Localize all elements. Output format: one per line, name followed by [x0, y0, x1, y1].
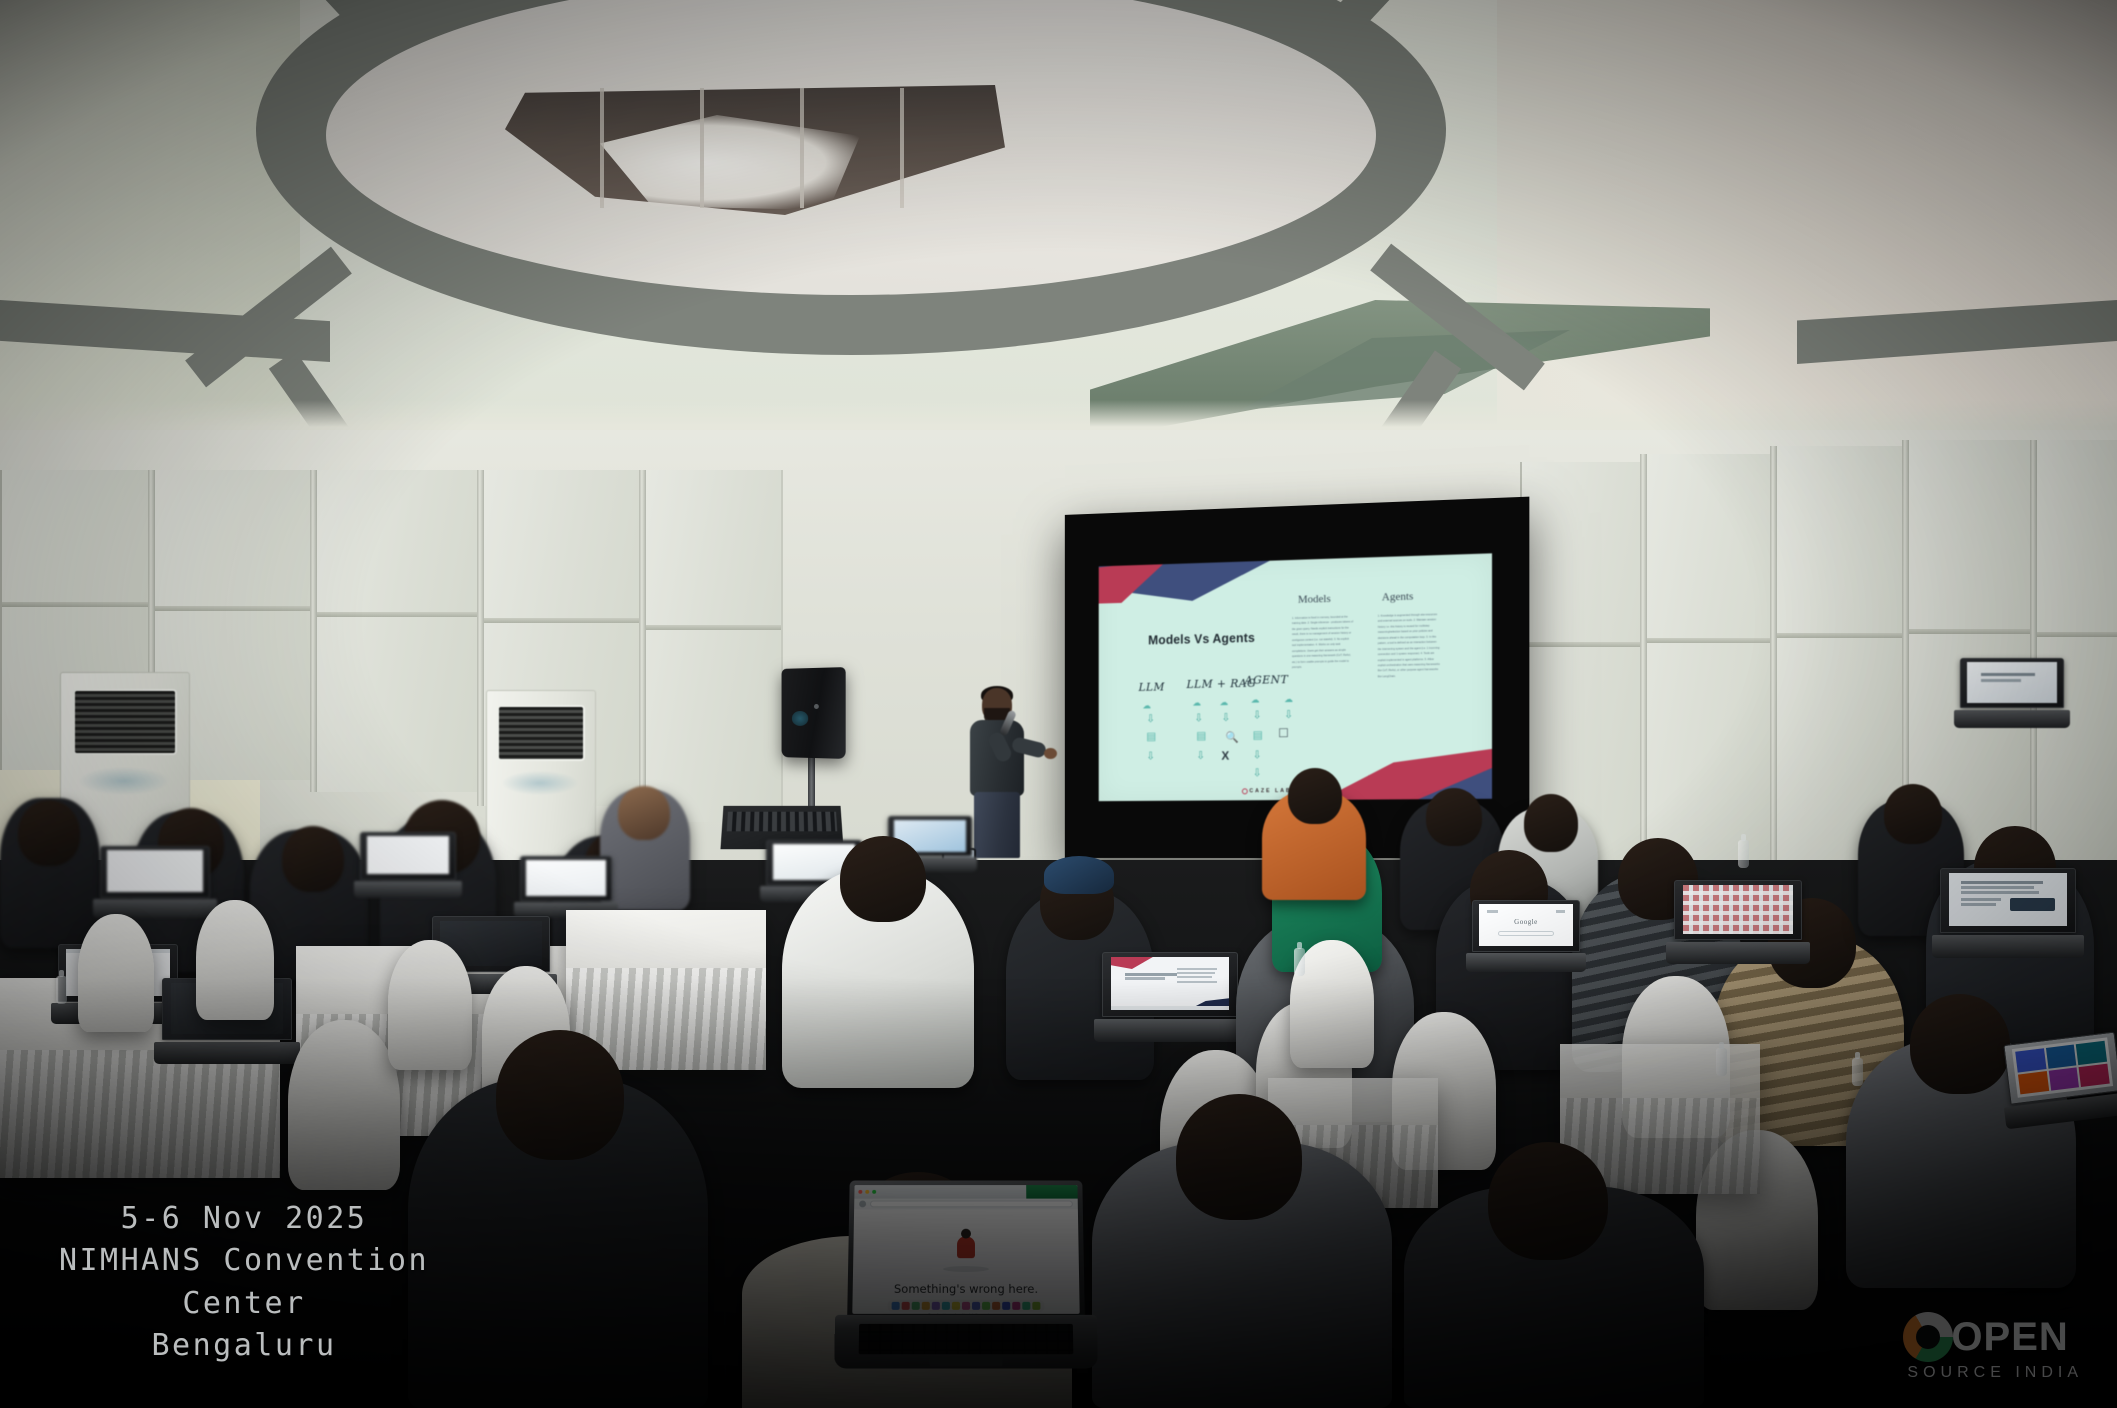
laptop-screen: Google: [1479, 904, 1572, 946]
macos-dock[interactable]: [888, 1299, 1045, 1311]
caze-circle-mark-icon: [1241, 788, 1247, 794]
table-skirt: [0, 1050, 280, 1178]
slide-model-block-icon: ▤: [1253, 728, 1263, 741]
water-bottle: [1294, 948, 1305, 976]
partition-panel: [643, 470, 783, 822]
audience-head: [618, 786, 670, 840]
slide-cloud-icon: ☁: [1251, 695, 1260, 706]
laptop-base: [1666, 942, 1809, 964]
slide-cloud-icon: ☁: [1219, 697, 1228, 708]
audience-head: [282, 826, 344, 892]
laptop-lid: [1940, 868, 2076, 933]
slide-model-block-icon: ▤: [1196, 729, 1206, 742]
laptop-screen: [1111, 957, 1229, 1010]
pa-speaker: [782, 667, 846, 759]
error-illustration-ground: [943, 1266, 989, 1272]
skylight-mullion: [600, 88, 604, 208]
conference-hall-photograph: Models Vs Agents Models Agents 1. Inform…: [0, 0, 2117, 1408]
laptop-base: [1954, 710, 2070, 728]
window-minimize-dot[interactable]: [865, 1190, 869, 1194]
dock-icon[interactable]: [942, 1301, 950, 1309]
audience-laptop-slide-deck: [1102, 952, 1238, 1042]
laptop-screen: [1949, 873, 2067, 926]
ac-logo-badge: [502, 771, 578, 795]
laptop-screen: [526, 860, 605, 896]
laptop-screen: [367, 836, 450, 874]
window-close-dot[interactable]: [858, 1190, 862, 1194]
slide-down-arrow: ⇩: [1253, 748, 1262, 761]
laptop-base: [1094, 1019, 1246, 1042]
audience-laptop: [520, 856, 612, 918]
slide-column-body-agents: 1. Knowledge is augmented through site-r…: [1378, 612, 1441, 680]
slide-handwritten-agent: AGENT: [1245, 673, 1288, 687]
audience-head: [1288, 768, 1342, 824]
partition-panel: [1644, 454, 1772, 872]
dock-icon[interactable]: [922, 1301, 930, 1309]
audience-head: [1910, 994, 2010, 1094]
slide-column-header-agents: Agents: [1382, 590, 1414, 603]
slide-down-arrow: ⇩: [1194, 711, 1203, 724]
audience-laptop: [360, 832, 456, 898]
audience-laptop: [100, 846, 210, 918]
partition-post: [477, 470, 484, 806]
water-bottle: [1738, 840, 1749, 868]
foreground-audience-head: [1176, 1094, 1302, 1220]
slide-down-arrow: ⇩: [1196, 749, 1205, 762]
laptop-lid: [1102, 952, 1238, 1017]
water-bottle: [1852, 1058, 1863, 1086]
dock-icon[interactable]: [1012, 1301, 1020, 1309]
center-left-ac-unit: [486, 690, 596, 866]
skylight-mullion: [900, 88, 904, 208]
partition-post: [639, 470, 646, 822]
laptop-base: [154, 1042, 300, 1064]
audience-laptop-google-search: Google: [1472, 900, 1580, 972]
skylight-mullion: [700, 88, 704, 208]
partition-post: [1640, 454, 1647, 872]
dock-icon[interactable]: [1032, 1301, 1040, 1309]
error-illustration: [943, 1235, 989, 1272]
error-message-title: Something's wrong here.: [853, 1282, 1080, 1296]
chair-cover: [388, 940, 472, 1070]
foreground-laptop-lid: Something's wrong here. We can't find th…: [847, 1180, 1085, 1318]
laptop-lid: [520, 856, 612, 901]
ceiling: [0, 0, 2117, 470]
audience-head-wrap: [1044, 856, 1114, 894]
browser-toolbar: [854, 1199, 1078, 1210]
partition-post: [310, 470, 317, 792]
water-bottle: [1716, 1048, 1727, 1076]
presenter-right-hand: [1044, 748, 1057, 759]
foreground-laptop-base: [834, 1315, 1097, 1369]
slide-down-arrow: ⇩: [1253, 708, 1262, 721]
browser-active-tab-highlight[interactable]: [1026, 1185, 1078, 1199]
partition-post: [1770, 446, 1777, 870]
chair-cover: [196, 900, 274, 1020]
audience-laptop-colorful-tiles: [2003, 1031, 2117, 1128]
laptop-base: [1932, 935, 2084, 958]
dock-icon[interactable]: [932, 1301, 940, 1309]
laptop-lid: [2003, 1031, 2117, 1105]
ac-grille: [497, 705, 586, 761]
slide-down-arrow: ⇩: [1253, 766, 1262, 779]
laptop-trackpad[interactable]: [929, 1358, 1003, 1367]
slide-down-arrow: ⇩: [1221, 711, 1230, 724]
audience-laptop: [1960, 658, 2064, 728]
laptop-base: [1466, 953, 1587, 972]
projected-slide: Models Vs Agents Models Agents 1. Inform…: [1099, 553, 1492, 801]
page-favicon: [859, 1201, 866, 1208]
dock-icon[interactable]: [952, 1301, 960, 1309]
browser-url-bar[interactable]: [870, 1201, 1073, 1208]
audience-head: [1524, 794, 1578, 852]
browser-window-chrome: [854, 1185, 1077, 1199]
slide-column-header-models: Models: [1298, 593, 1331, 606]
dock-icon[interactable]: [982, 1301, 990, 1309]
slide-cloud-icon: ☁: [1192, 698, 1201, 709]
partition-panel: [314, 470, 479, 792]
error-page-content: Something's wrong here. We can't find th…: [852, 1209, 1079, 1313]
slide-column-body-models: 1. Information is fixed in memory, bound…: [1292, 614, 1354, 670]
dock-icon[interactable]: [1022, 1301, 1030, 1309]
dock-icon[interactable]: [912, 1301, 920, 1309]
dock-icon[interactable]: [892, 1301, 900, 1309]
slide-down-arrow: ⇩: [1146, 712, 1155, 725]
water-bottle: [56, 976, 67, 1004]
laptop-screen: [1683, 885, 1794, 934]
laptop-lid: Google: [1472, 900, 1580, 952]
slide-handwritten-llm: LLM: [1139, 681, 1165, 694]
dock-icon[interactable]: [962, 1301, 970, 1309]
error-illustration-figure: [957, 1237, 975, 1259]
laptop-base: [354, 881, 462, 898]
laptop-keyboard[interactable]: [858, 1324, 1074, 1354]
audience-head: [1426, 788, 1482, 846]
chair-cover: [78, 914, 154, 1032]
foreground-laptop-screen: Something's wrong here. We can't find th…: [852, 1185, 1079, 1313]
slide-title: Models Vs Agents: [1148, 631, 1255, 647]
audience-head: [1884, 784, 1942, 844]
laptop-lid: [1674, 880, 1802, 940]
laptop-lid: [1960, 658, 2064, 708]
audience-head: [840, 836, 926, 922]
slide-document-icon: ☐: [1278, 726, 1289, 740]
foreground-audience-head: [496, 1030, 624, 1160]
dock-icon[interactable]: [1002, 1301, 1010, 1309]
laptop-screen: [1967, 662, 2057, 703]
slide-cloud-icon: ☁: [1142, 700, 1151, 711]
slide-down-arrow: ⇩: [1146, 750, 1155, 763]
audience-laptop-document: [1940, 868, 2076, 958]
laptop-screen: [2011, 1037, 2113, 1098]
speaker-woofer-cone: [792, 711, 808, 725]
ac-logo-badge: [79, 767, 169, 796]
chair-cover: [288, 1020, 400, 1190]
dock-icon[interactable]: [972, 1301, 980, 1309]
laptop-screen: [107, 850, 202, 892]
speaker-tweeter: [814, 704, 819, 709]
slide-model-block-icon: ▤: [1146, 730, 1156, 743]
laptop-lid: [360, 832, 456, 880]
slide-down-arrow: ⇩: [1284, 708, 1293, 721]
audience-laptop-photo-grid: [1674, 880, 1802, 964]
dock-icon[interactable]: [992, 1301, 1000, 1309]
dock-icon[interactable]: [902, 1301, 910, 1309]
slide-magnifier-icon: 🔍: [1225, 731, 1238, 744]
audience-head: [18, 800, 80, 866]
ac-grille: [73, 689, 178, 754]
laptop-lid: [100, 846, 210, 898]
skylight-mullion: [800, 88, 804, 208]
foreground-audience-head: [1488, 1142, 1608, 1260]
slide-cross-mark: X: [1221, 749, 1229, 763]
slide-cloud-icon: ☁: [1284, 694, 1293, 705]
window-maximize-dot[interactable]: [872, 1190, 876, 1194]
foreground-laptop: Something's wrong here. We can't find th…: [846, 1180, 1086, 1368]
